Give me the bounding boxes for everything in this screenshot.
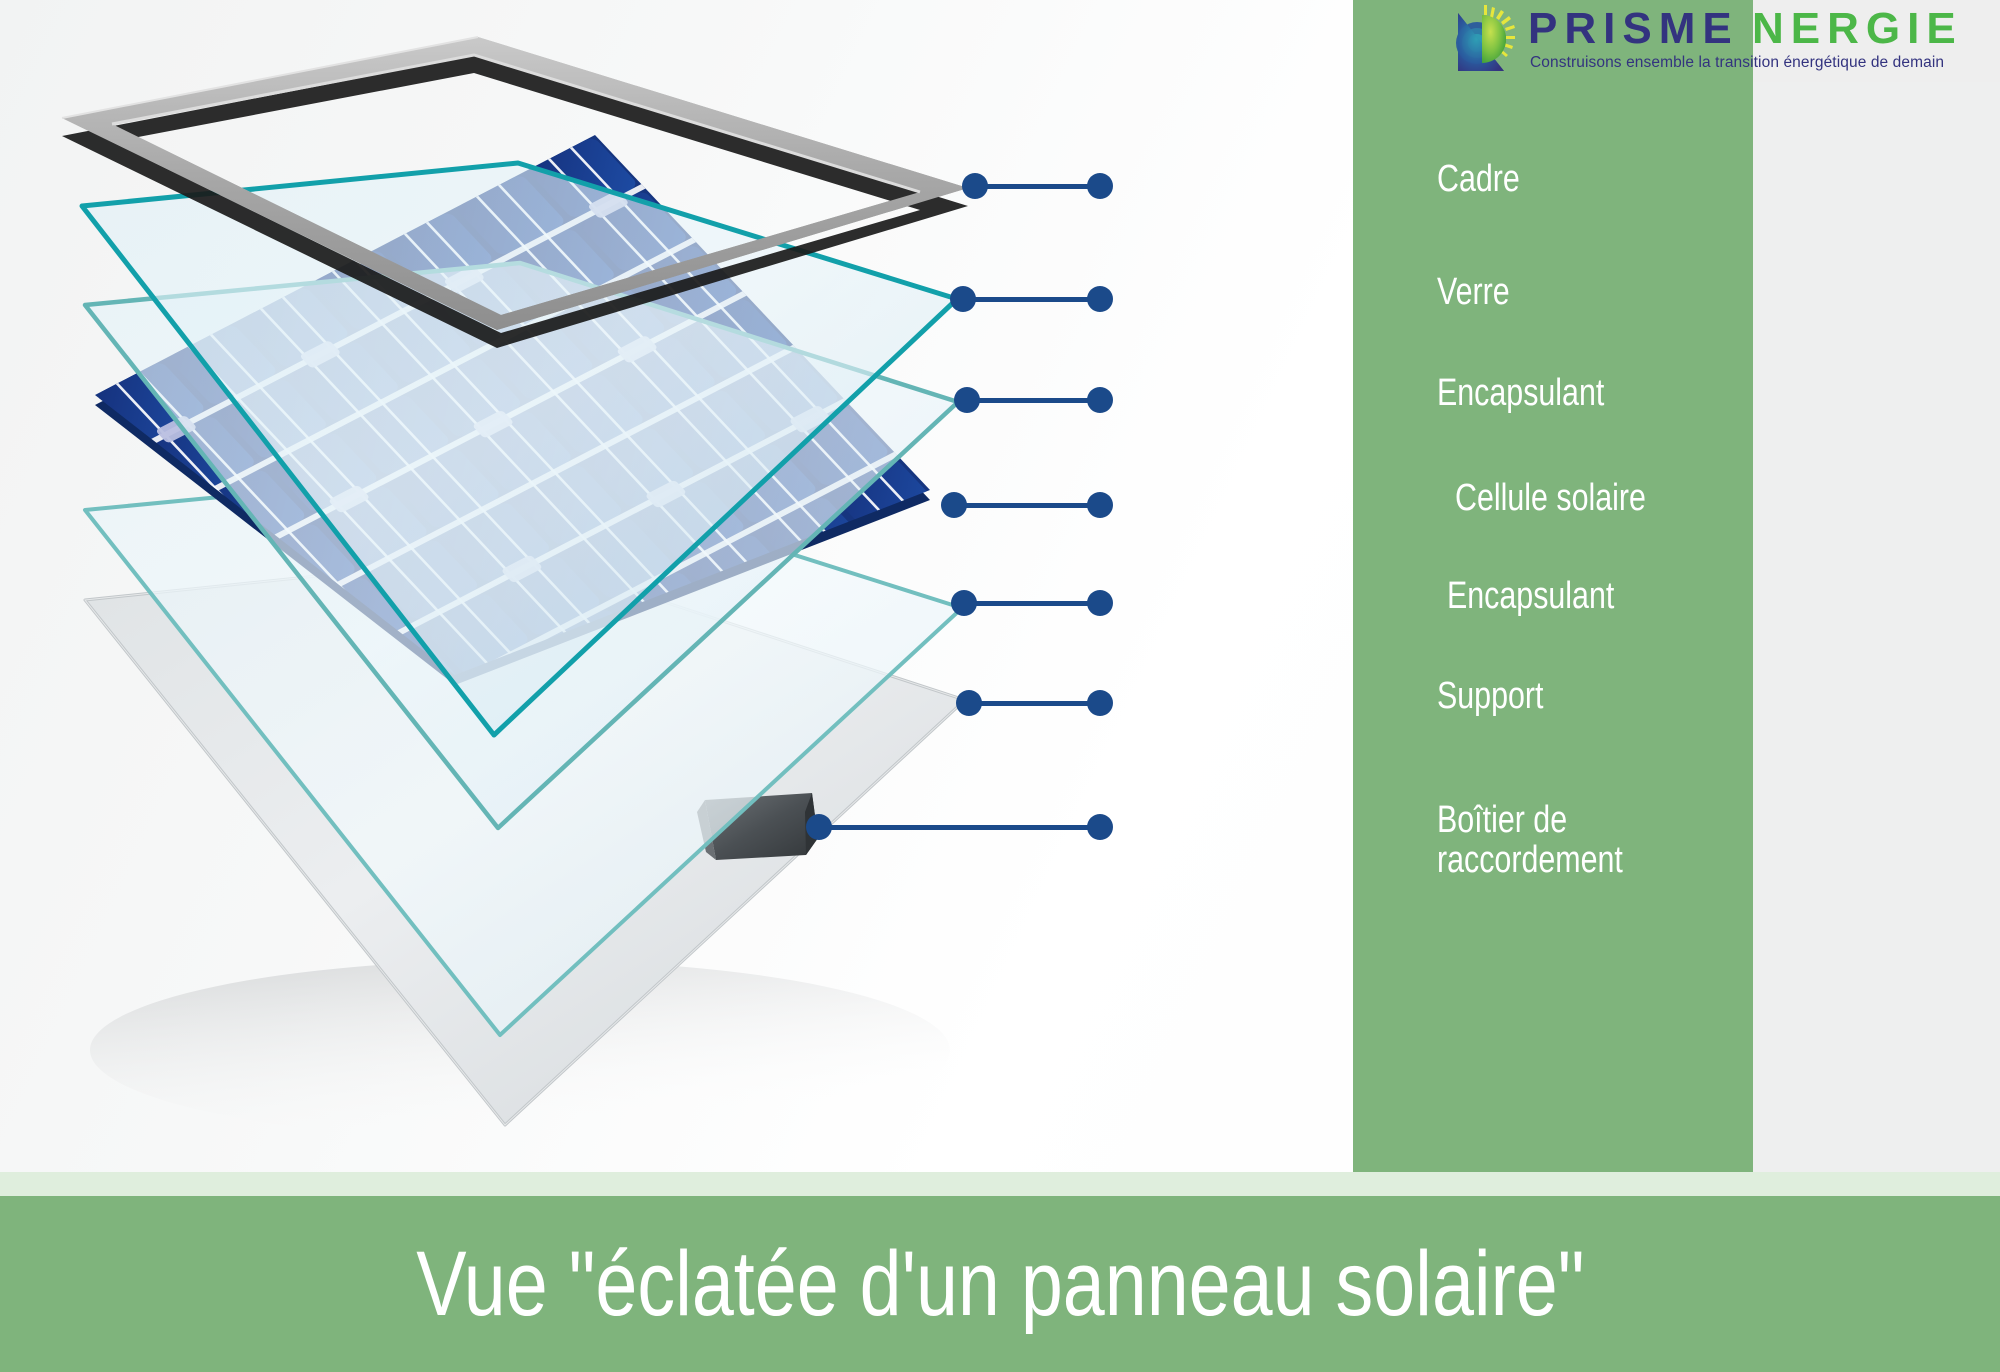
callout-dot-start — [951, 590, 977, 616]
callout-dot-end — [1087, 814, 1113, 840]
callout-label-support: Support — [1437, 677, 1543, 717]
callout-label-encapsulant-haut: Encapsulant — [1437, 374, 1604, 414]
callout-label-encapsulant-bas: Encapsulant — [1447, 577, 1614, 617]
brand-name-nergie: NERGIE — [1752, 6, 1963, 52]
callout-dot-start — [962, 173, 988, 199]
callout-line — [968, 701, 1100, 706]
callout-dot-start — [950, 286, 976, 312]
callout-dot-end — [1087, 590, 1113, 616]
callout-label-cellule-solaire: Cellule solaire — [1455, 479, 1646, 519]
callout-dot-end — [1087, 173, 1113, 199]
callout-dot-end — [1087, 286, 1113, 312]
callout-line — [966, 398, 1100, 403]
callout-label-verre: Verre — [1437, 273, 1510, 313]
callout-line — [963, 601, 1100, 606]
callout-dot-start — [954, 387, 980, 413]
callout-line — [818, 825, 1100, 830]
brand-name-prisme: PRISME — [1528, 6, 1739, 52]
callout-dot-end — [1087, 492, 1113, 518]
brand-tagline: Construisons ensemble la transition éner… — [1530, 54, 1944, 72]
infographic-canvas: PRISME NERGIE Construisons ensemble la t… — [0, 0, 2000, 1372]
brand-header: PRISME NERGIE Construisons ensemble la t… — [1353, 0, 2000, 82]
footer-accent-strip — [0, 1172, 2000, 1196]
callout-label-boitier: Boîtier de raccordement — [1437, 801, 1677, 881]
callout-line — [953, 503, 1100, 508]
prism-sun-logo-icon — [1448, 5, 1520, 75]
footer-title-bar: Vue "éclatée d'un panneau solaire" — [0, 1196, 2000, 1372]
callout-dot-end — [1087, 690, 1113, 716]
callout-line — [962, 297, 1100, 302]
brand-wordmark: PRISME NERGIE Construisons ensemble la t… — [1528, 4, 1998, 78]
callout-line — [975, 184, 1100, 189]
exploded-solar-panel-illustration — [0, 0, 1400, 1195]
page-title: Vue "éclatée d'un panneau solaire" — [416, 1232, 1584, 1337]
callout-dot-start — [941, 492, 967, 518]
callout-dot-start — [806, 814, 832, 840]
callout-dot-start — [956, 690, 982, 716]
callout-label-cadre: Cadre — [1437, 160, 1520, 200]
callout-dot-end — [1087, 387, 1113, 413]
